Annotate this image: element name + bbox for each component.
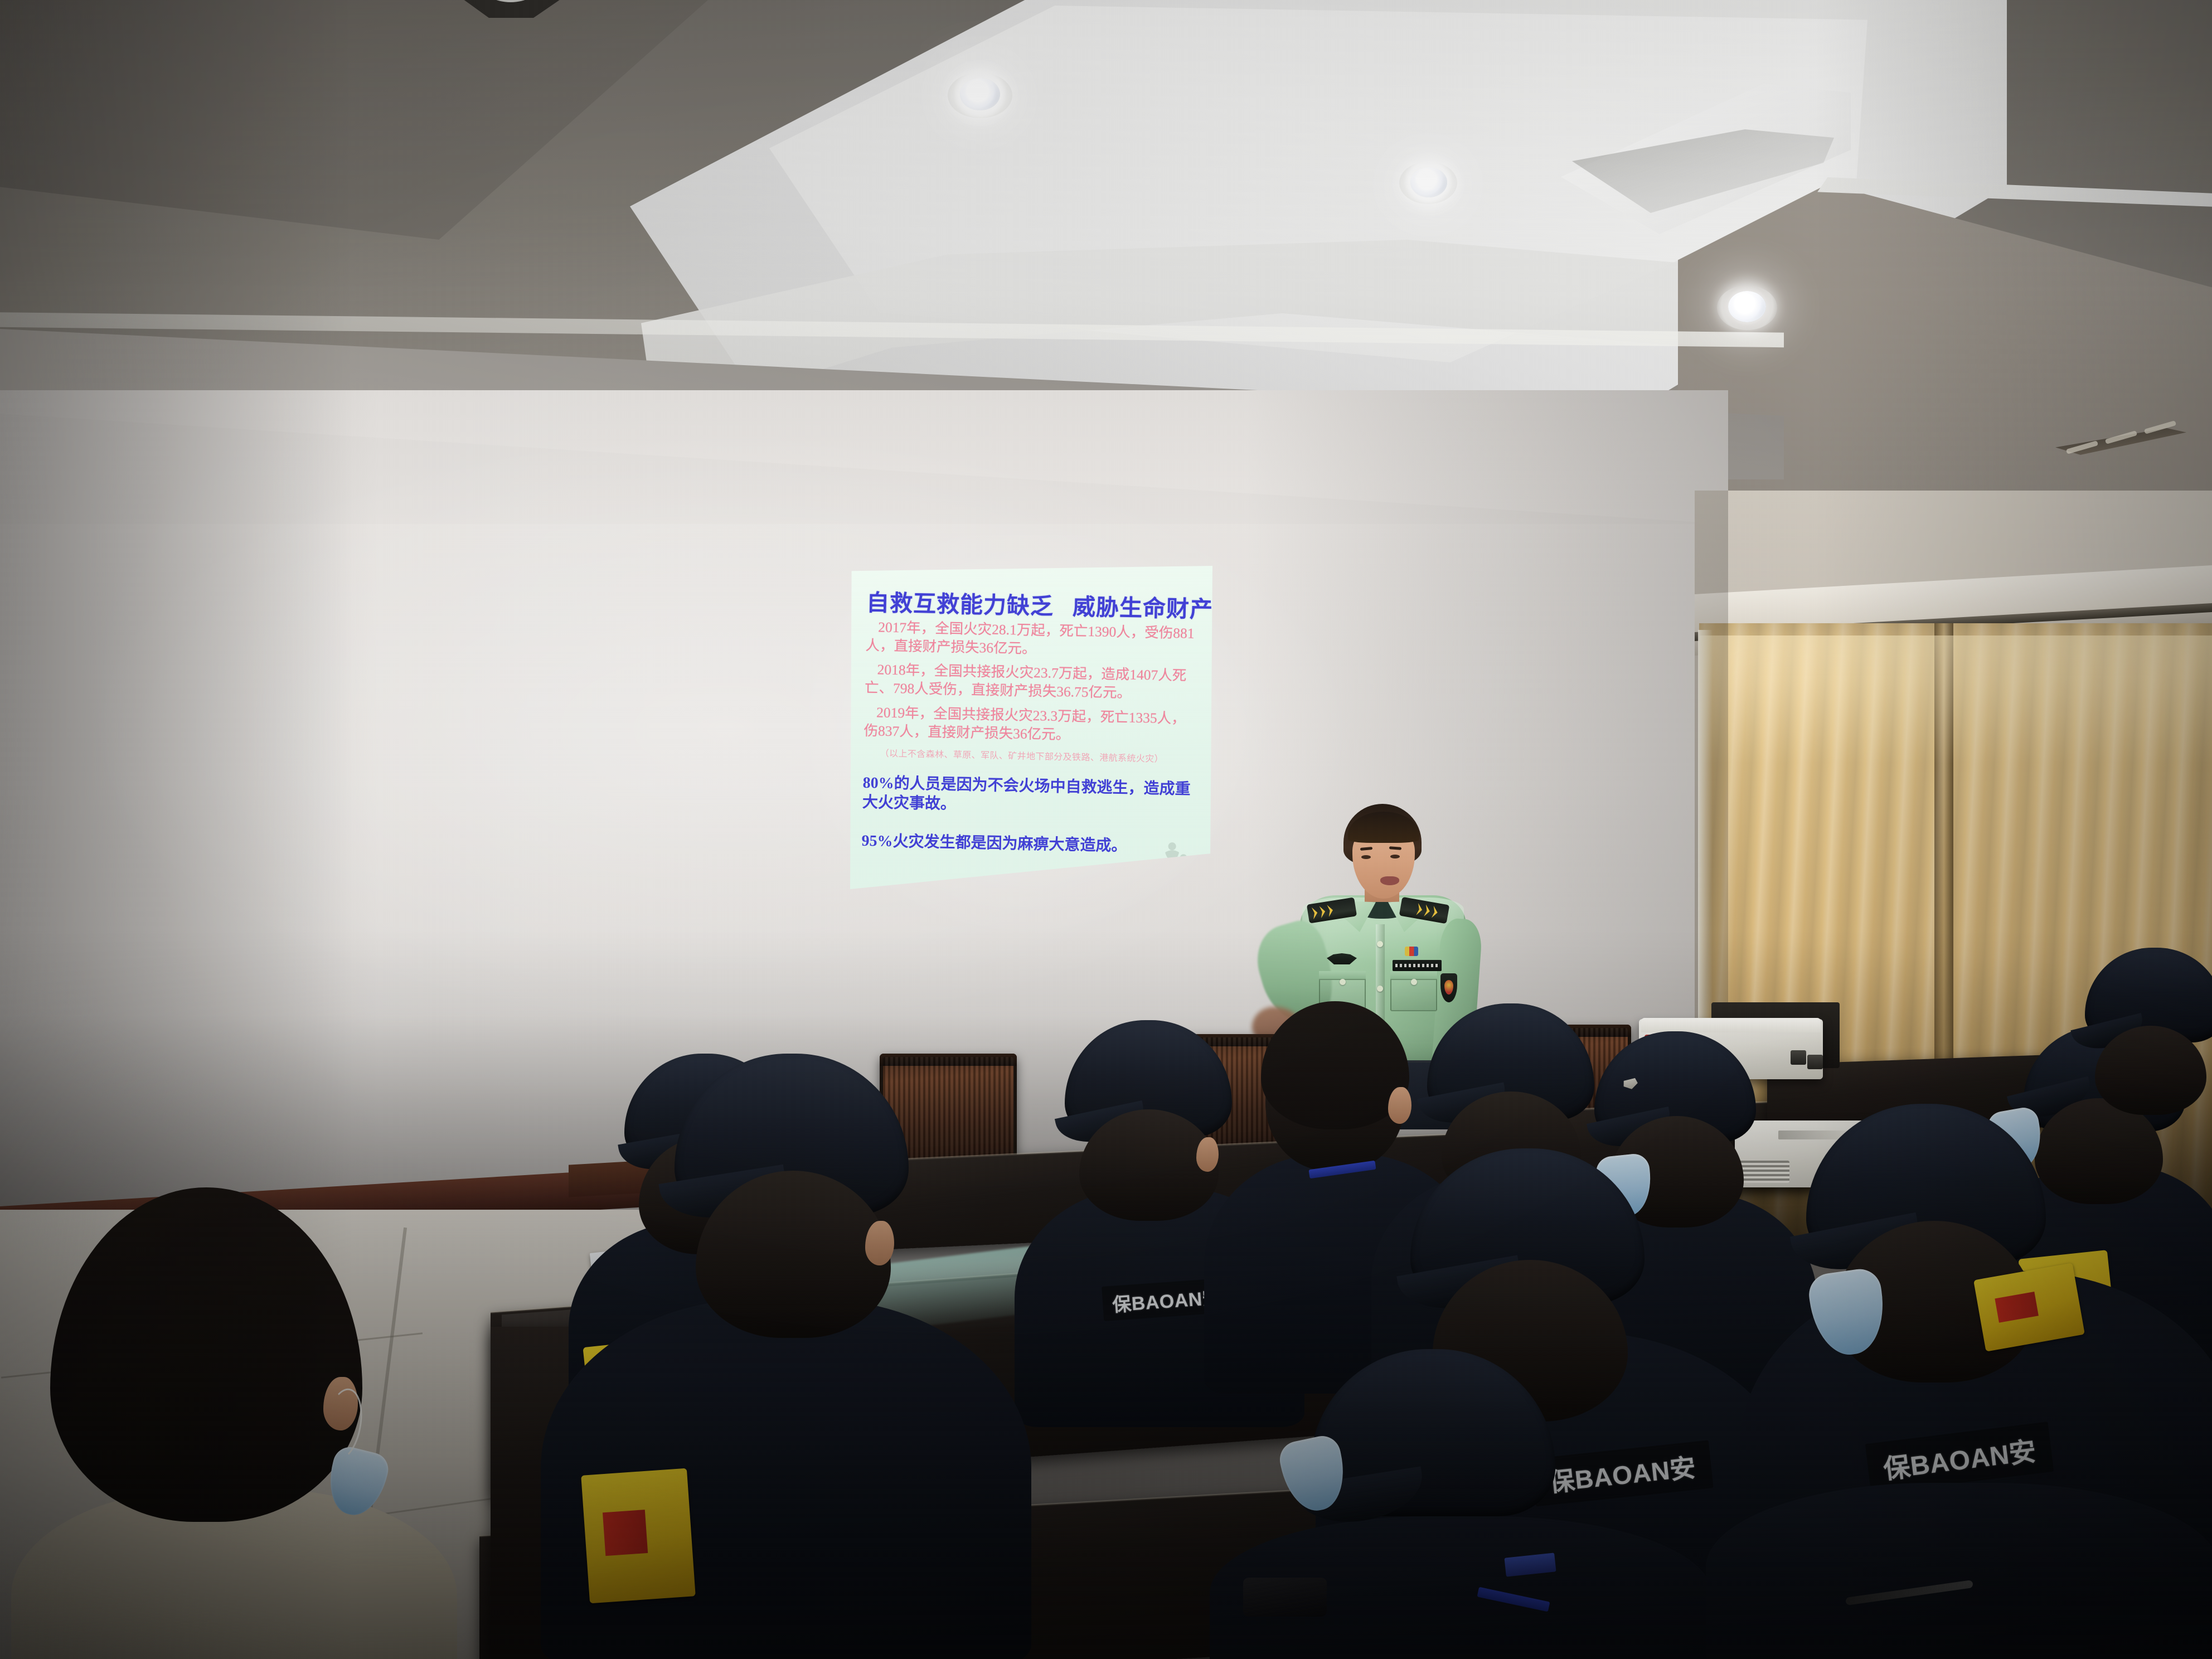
attendee-guard-far-right-top <box>2063 948 2212 1115</box>
presenter-shirt-button <box>1377 941 1383 947</box>
presenter-pocket-button-right <box>1411 979 1417 985</box>
handheld-device[interactable] <box>1243 1578 1327 1617</box>
arm-brassard <box>581 1468 696 1604</box>
presenter-shirt-button <box>1377 986 1383 992</box>
slide-highlight-80: 80%的人员是因为不会火场中自救逃生，造成重大火灾事故。 <box>862 773 1194 819</box>
attendee-ear <box>865 1221 894 1265</box>
presenter-flag-badge-icon <box>1405 947 1418 956</box>
conference-room-scene: 自救互救能力缺乏 威胁生命财产安全 2017年，全国火灾28.1万起，死亡139… <box>0 0 2212 1659</box>
presenter-eye-left <box>1361 855 1371 859</box>
ceiling-downlight-icon <box>960 78 1000 110</box>
slide-body: 2017年，全国火灾28.1万起，死亡1390人，受伤881人，直接财产损失36… <box>864 618 1197 746</box>
rank-chevron <box>1416 903 1423 916</box>
rank-chevron <box>1424 904 1431 917</box>
slide-title: 自救互救能力缺乏 威胁生命财产安全 <box>866 578 1198 621</box>
projected-slide: 自救互救能力缺乏 威胁生命财产安全 2017年，全国火灾28.1万起，死亡139… <box>850 566 1212 889</box>
attendee-shoulders <box>1706 1483 2212 1659</box>
attendee-guard-bottom-right <box>1706 1449 2212 1659</box>
flight-case-latch[interactable] <box>1807 1055 1823 1069</box>
attendee-foreground-civilian <box>33 1187 468 1659</box>
presenter-mouth <box>1380 876 1399 885</box>
slide-title-part1: 自救互救能力缺乏 <box>866 591 1054 618</box>
ceiling-downlight-icon <box>1410 167 1447 197</box>
flight-case-lid <box>1641 1018 1821 1032</box>
presenter-pocket-button-left <box>1340 979 1346 985</box>
attendee-hair <box>50 1187 362 1522</box>
slide-title-part2: 威胁生命财产安全 <box>1073 595 1212 622</box>
presenter-nametag <box>1393 960 1442 971</box>
ceiling-downlight-icon <box>1728 291 1766 322</box>
attendee-ear <box>1196 1137 1219 1172</box>
rank-chevron <box>1327 904 1333 917</box>
slide-paragraph-2017: 2017年，全国火灾28.1万起，死亡1390人，受伤881人，直接财产损失36… <box>865 618 1197 661</box>
slide-paragraph-2019: 2019年，全国共接报火灾23.3万起，死亡1335人，伤837人，直接财产损失… <box>864 703 1195 746</box>
slide-paragraph-2018: 2018年，全国共接报火灾23.7万起，造成1407人死亡、798人受伤，直接财… <box>865 660 1196 704</box>
slide-footnote: （以上不含森林、草原、军队、矿井地下部分及铁路、港航系统火灾） <box>880 745 1194 765</box>
rank-chevron <box>1312 906 1318 919</box>
rank-chevron <box>1320 905 1326 918</box>
slide-highlight-95: 95%火灾发生都是因为麻痹大意造成。 <box>861 831 1193 857</box>
curtain-top-light <box>1699 636 2212 764</box>
presenter-eye-right <box>1390 855 1400 858</box>
rank-chevron <box>1432 906 1439 919</box>
attendee-hair <box>1261 1001 1409 1129</box>
attendee-guard-front-left <box>591 1054 981 1659</box>
